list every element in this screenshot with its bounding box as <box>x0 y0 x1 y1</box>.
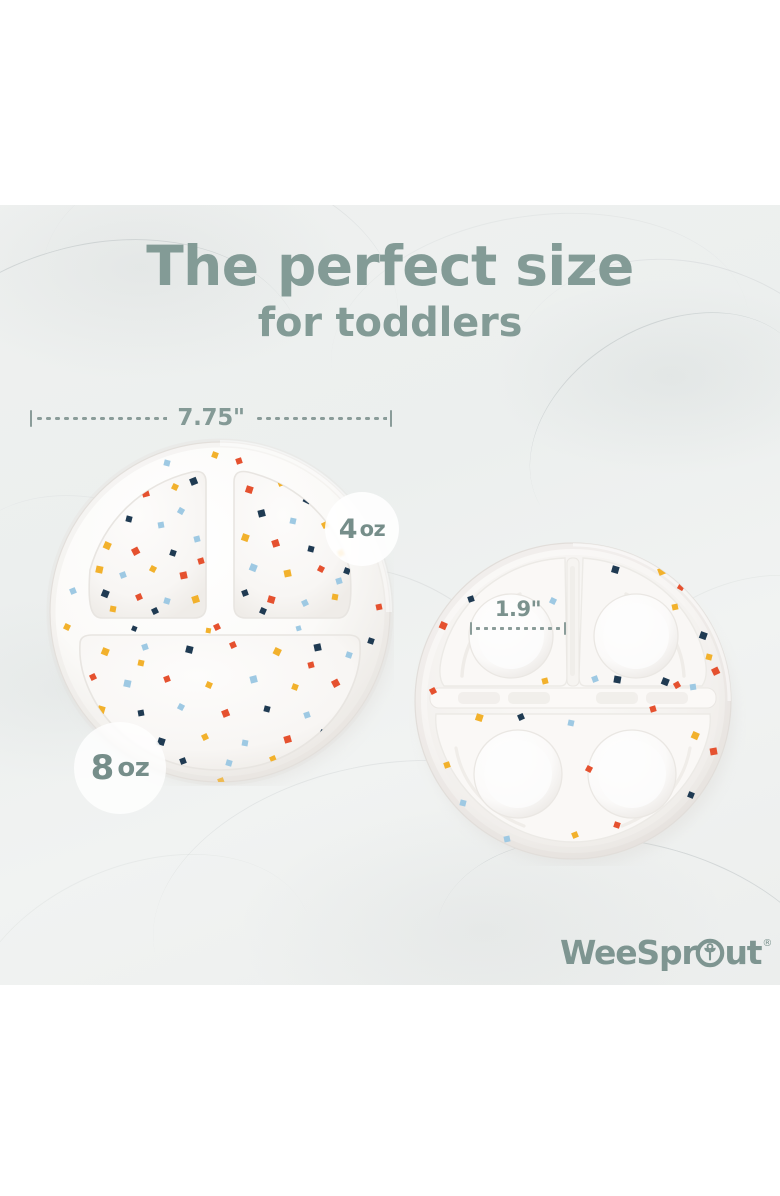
suction-cup-dimension-line <box>470 622 566 635</box>
suction-cup-dimension: 1.9" <box>470 598 566 635</box>
brand-logo-text-before: WeeSpr <box>560 934 696 972</box>
dimension-dotted-line-left <box>35 417 167 420</box>
plate-underside-image <box>400 536 746 866</box>
brand-logo: WeeSpr ut ® <box>560 934 772 972</box>
registered-trademark-symbol: ® <box>762 938 772 950</box>
brand-logo-text-after: ut <box>724 934 761 972</box>
plate-width-dimension: 7.75" <box>30 404 392 432</box>
page-subtitle: for toddlers <box>0 300 780 346</box>
brand-logo-text: WeeSpr ut <box>560 934 761 972</box>
plate-underside-illustration <box>400 536 746 866</box>
dimension-end-cap-right <box>390 410 392 427</box>
suction-cup-label: 1.9" <box>470 598 566 620</box>
capacity-badge-8oz-unit: oz <box>117 753 149 783</box>
headline-block: The perfect size for toddlers <box>0 236 780 346</box>
capacity-badge-4oz-number: 4 <box>339 514 357 545</box>
capacity-badge-4oz: 4 oz <box>325 492 399 566</box>
capacity-badge-4oz-unit: oz <box>360 517 386 541</box>
capacity-badge-8oz-number: 8 <box>91 748 114 788</box>
dimension-end-cap-left <box>30 410 32 427</box>
dimension-end-cap-right <box>564 622 566 635</box>
capacity-badge-8oz: 8 oz <box>74 722 166 814</box>
page-title: The perfect size <box>0 236 780 296</box>
dimension-end-cap-left <box>470 622 472 635</box>
sprout-icon <box>695 938 725 968</box>
product-image-canvas: The perfect size for toddlers 7.75" <box>0 0 780 1196</box>
dimension-dotted-line-right <box>255 417 387 420</box>
plate-width-label: 7.75" <box>170 405 251 431</box>
dimension-dotted-line <box>474 627 562 630</box>
